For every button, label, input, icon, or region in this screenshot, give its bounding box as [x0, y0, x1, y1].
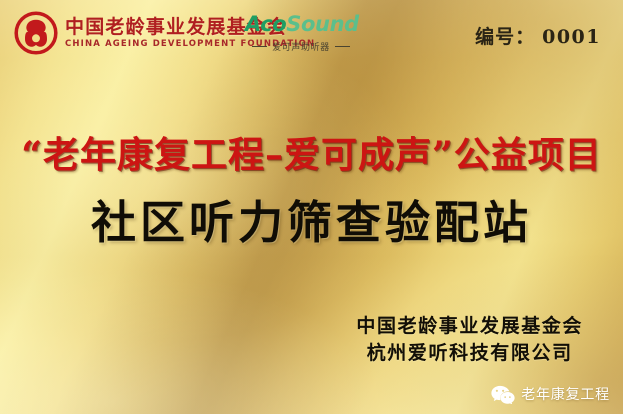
- sponsor-tagline-row: 爱可声助听器: [245, 40, 357, 53]
- serial-number: 编号：0001: [475, 22, 601, 49]
- serial-label: 编号：: [475, 26, 535, 48]
- sponsor-tagline: 爱可声助听器: [272, 40, 330, 53]
- plaque-header: 中国老龄事业发展基金会 CHINA AGEING DEVELOPMENT FOU…: [0, 0, 623, 72]
- wechat-icon: [491, 385, 515, 404]
- tagline-dash-left-icon: [252, 46, 267, 47]
- issuer-line-1: 中国老龄事业发展基金会: [356, 313, 583, 340]
- station-title: 社区听力筛查验配站: [0, 186, 623, 251]
- acosound-wordmark-part1: Aco: [245, 12, 286, 36]
- cadf-emblem-icon: [14, 11, 58, 55]
- watermark-text: 老年康复工程: [521, 384, 610, 404]
- acosound-wordmark-part2: Sound: [286, 12, 359, 36]
- serial-value: 0001: [542, 26, 601, 48]
- wechat-watermark: 老年康复工程: [491, 384, 610, 404]
- program-title: “老年康复工程–爱可成声”公益项目: [0, 126, 623, 178]
- sponsor-brand: AcoSound 爱可声助听器: [245, 14, 357, 53]
- issuer-line-2: 杭州爱听科技有限公司: [356, 340, 583, 367]
- award-plaque: 中国老龄事业发展基金会 CHINA AGEING DEVELOPMENT FOU…: [0, 0, 623, 414]
- tagline-dash-right-icon: [335, 46, 350, 47]
- issuer-signature: 中国老龄事业发展基金会 杭州爱听科技有限公司: [356, 313, 583, 367]
- acosound-wordmark: AcoSound: [245, 14, 357, 35]
